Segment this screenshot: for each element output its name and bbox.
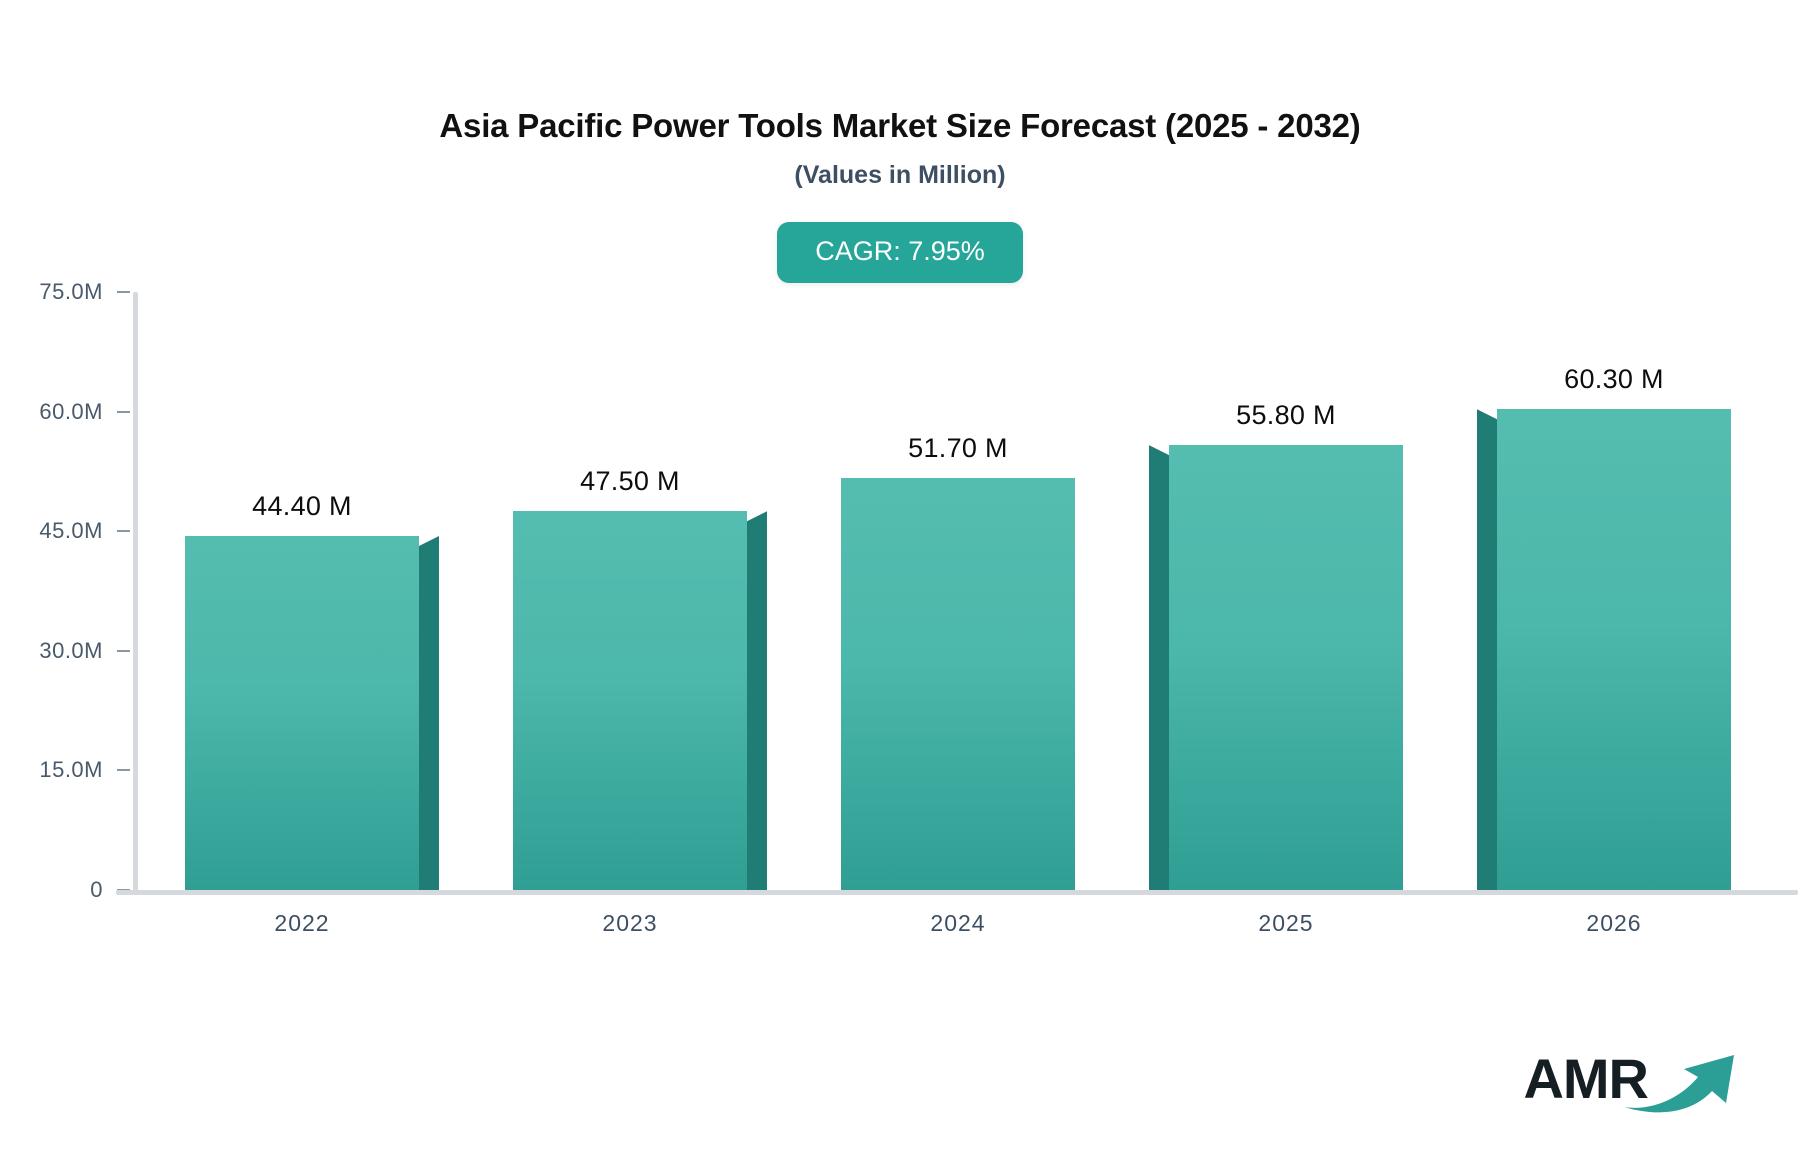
y-axis-tick-label: 15.0M bbox=[39, 757, 103, 783]
y-axis-tick: 15.0M bbox=[39, 757, 130, 783]
bar-face bbox=[513, 511, 747, 890]
bar-column[interactable]: 60.30 M bbox=[1497, 270, 1731, 890]
bar-column[interactable]: 47.50 M bbox=[513, 270, 747, 890]
plot-area: 75.0M60.0M45.0M30.0M15.0M0 44.40 M47.50 … bbox=[0, 270, 1800, 910]
y-axis: 75.0M60.0M45.0M30.0M15.0M0 bbox=[0, 270, 130, 910]
y-axis-tick-label: 45.0M bbox=[39, 518, 103, 544]
y-axis-tick: 30.0M bbox=[39, 638, 130, 664]
bar[interactable] bbox=[841, 478, 1075, 890]
y-axis-tick-mark bbox=[117, 291, 130, 293]
y-axis-tick-mark bbox=[117, 769, 130, 771]
bar-value-label: 55.80 M bbox=[1236, 400, 1336, 431]
y-axis-tick-label: 75.0M bbox=[39, 279, 103, 305]
y-axis-tick: 75.0M bbox=[39, 279, 130, 305]
bar-value-label: 51.70 M bbox=[908, 433, 1008, 464]
x-axis-tick-label: 2025 bbox=[1258, 910, 1313, 937]
bar-column[interactable]: 44.40 M bbox=[185, 270, 419, 890]
y-axis-tick: 60.0M bbox=[39, 399, 130, 425]
chart-subtitle: (Values in Million) bbox=[0, 162, 1800, 190]
x-axis-tick-label: 2024 bbox=[930, 910, 985, 937]
bar-side-face bbox=[1149, 445, 1169, 890]
page-title: Asia Pacific Power Tools Market Size For… bbox=[0, 108, 1800, 144]
bar[interactable] bbox=[1169, 445, 1403, 890]
bar-value-label: 44.40 M bbox=[252, 491, 352, 522]
chart-header: Asia Pacific Power Tools Market Size For… bbox=[0, 0, 1800, 190]
y-axis-tick-label: 60.0M bbox=[39, 399, 103, 425]
y-axis-tick-mark bbox=[117, 650, 130, 652]
bar-column[interactable]: 51.70 M bbox=[841, 270, 1075, 890]
bar-series: 44.40 M47.50 M51.70 M55.80 M60.30 M bbox=[138, 270, 1778, 890]
bar-side-face bbox=[419, 536, 439, 890]
bar-value-label: 47.50 M bbox=[580, 466, 680, 497]
x-axis-tick-label: 2023 bbox=[602, 910, 657, 937]
y-axis-tick: 45.0M bbox=[39, 518, 130, 544]
trending-up-arrow-icon bbox=[1622, 1051, 1742, 1118]
bar[interactable] bbox=[185, 536, 419, 890]
x-axis-baseline bbox=[116, 890, 1798, 895]
bar[interactable] bbox=[513, 511, 747, 890]
bar-face bbox=[1169, 445, 1403, 890]
amr-logo: AMR bbox=[1523, 1044, 1742, 1114]
bar-side-face bbox=[1477, 409, 1497, 890]
bar-value-label: 60.30 M bbox=[1564, 364, 1664, 395]
y-axis-tick-label: 0 bbox=[90, 877, 103, 903]
bar-face bbox=[841, 478, 1075, 890]
bar[interactable] bbox=[1497, 409, 1731, 890]
bar-face bbox=[1497, 409, 1731, 890]
y-axis-tick-label: 30.0M bbox=[39, 638, 103, 664]
bar-side-face bbox=[747, 511, 767, 890]
chart-page: Asia Pacific Power Tools Market Size For… bbox=[0, 0, 1800, 1156]
x-axis-tick-label: 2026 bbox=[1586, 910, 1641, 937]
y-axis-tick-mark bbox=[117, 411, 130, 413]
x-axis: 20222023202420252026 bbox=[138, 910, 1778, 950]
bar-column[interactable]: 55.80 M bbox=[1169, 270, 1403, 890]
y-axis-tick-mark bbox=[117, 530, 130, 532]
x-axis-tick-label: 2022 bbox=[274, 910, 329, 937]
bar-face bbox=[185, 536, 419, 890]
